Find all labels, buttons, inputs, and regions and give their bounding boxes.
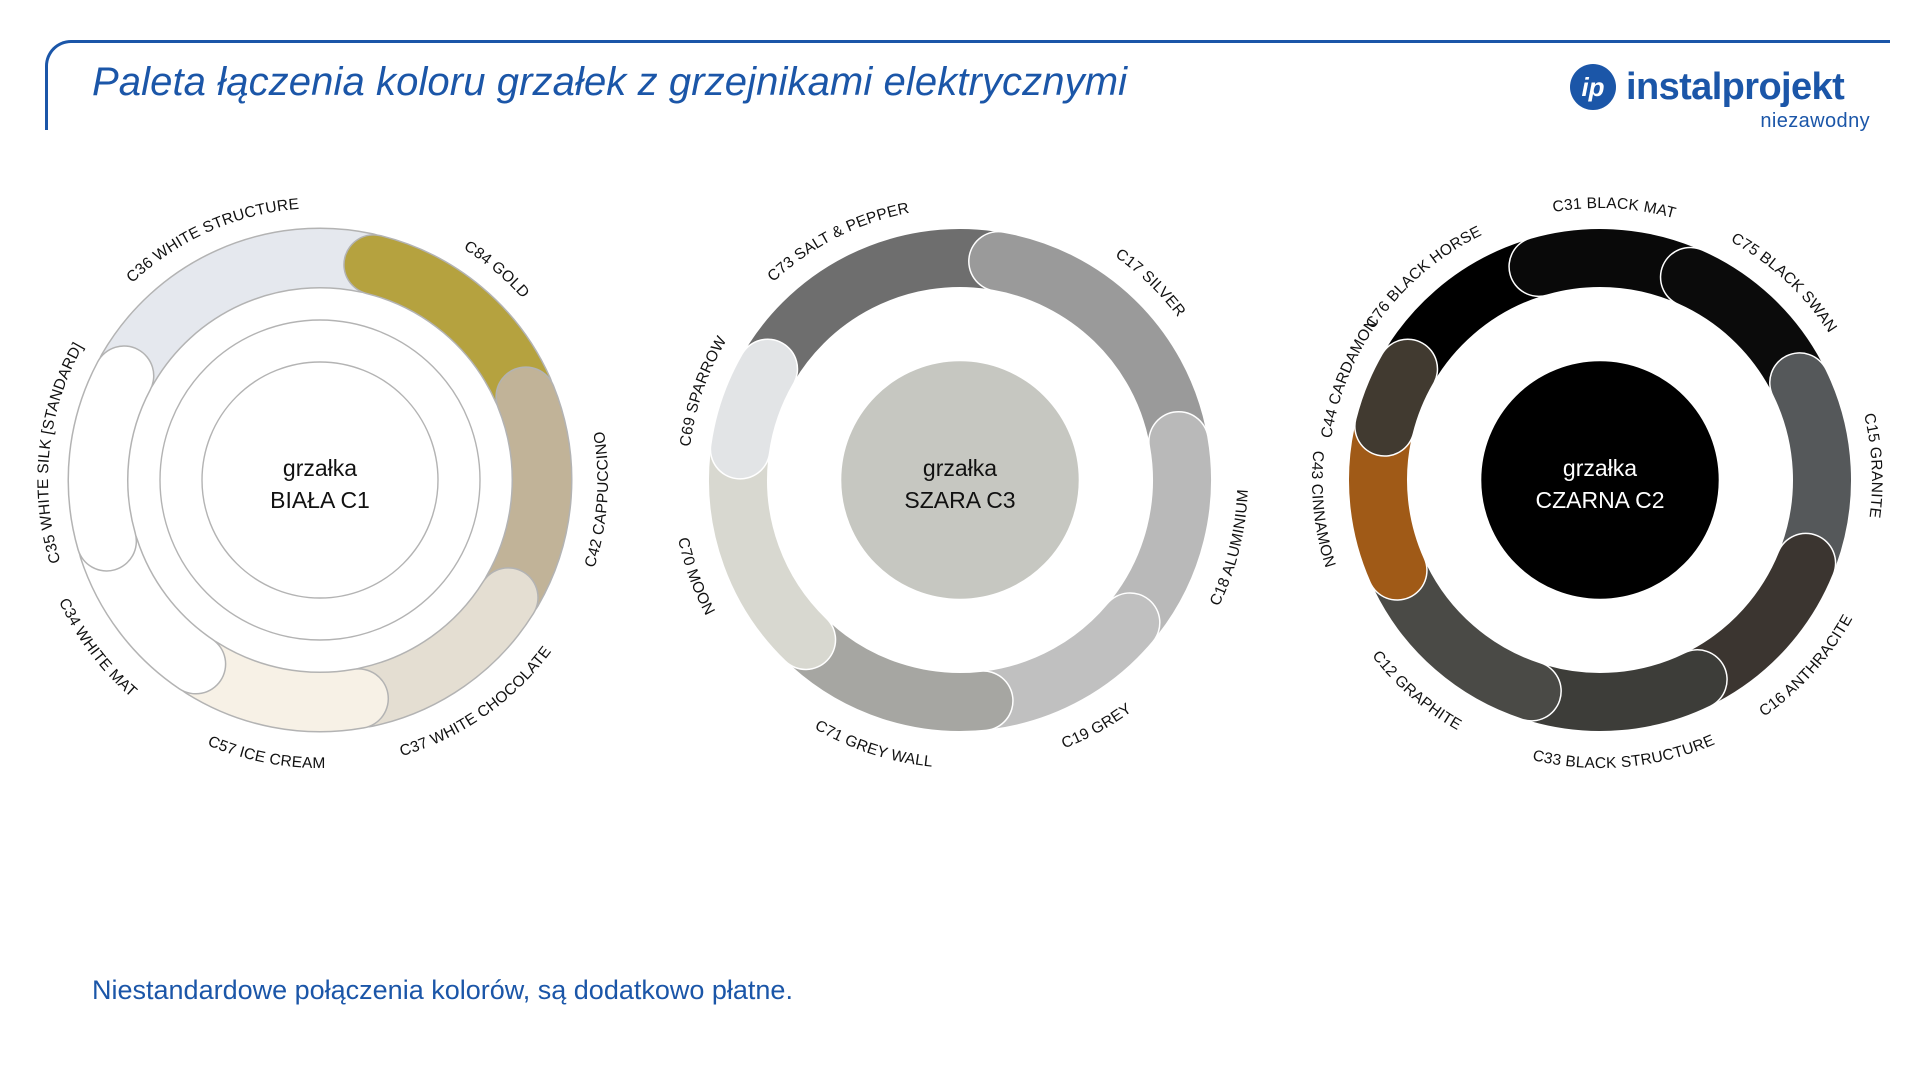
segment-label: C43 CINNAMON <box>1308 450 1338 570</box>
donut-segment[interactable] <box>202 668 358 702</box>
color-wheel-white: grzałkaBIAŁA C1C36 WHITE STRUCTUREC84 GO… <box>0 170 640 890</box>
donut-segment[interactable] <box>1385 369 1408 426</box>
hub-label-line2: CZARNA C2 <box>1535 487 1664 513</box>
segment-label: C19 GREY <box>1059 700 1135 752</box>
donut-segment[interactable] <box>738 457 806 640</box>
donut-segment[interactable] <box>1135 441 1182 616</box>
donut-segment[interactable] <box>1800 383 1822 556</box>
donut-segment[interactable] <box>98 376 124 541</box>
segment-label: C70 MOON <box>674 536 718 618</box>
segment-label: C57 ICE CREAM <box>205 733 325 772</box>
segment-label: C31 BLACK MAT <box>1551 195 1678 222</box>
donut-segment[interactable] <box>512 397 542 591</box>
segment-label: C33 BLACK STRUCTURE <box>1531 732 1717 772</box>
hub-label-line1: grzałka <box>923 455 997 481</box>
donut-segment[interactable] <box>366 598 508 698</box>
segment-label: C42 CAPPUCCINO <box>582 430 612 569</box>
color-wheel-grey: grzałkaSZARA C3C73 SALT & PEPPERC17 SILV… <box>640 170 1280 890</box>
donut-chart: grzałkaSZARA C3C73 SALT & PEPPERC17 SILV… <box>640 170 1280 890</box>
footer-note: Niestandardowe połączenia kolorów, są do… <box>92 975 793 1006</box>
hub-label-line2: SZARA C3 <box>904 487 1015 513</box>
segment-label: C18 ALUMINIUM <box>1207 489 1252 609</box>
hub-label-line1: grzałka <box>1563 455 1637 481</box>
donut-segment[interactable] <box>128 258 366 369</box>
donut-segment[interactable] <box>740 369 768 449</box>
logo-monogram: ip <box>1570 64 1616 110</box>
color-wheel-group: grzałkaBIAŁA C1C36 WHITE STRUCTUREC84 GO… <box>0 170 1920 890</box>
donut-segment[interactable] <box>764 258 991 376</box>
donut-segment[interactable] <box>811 645 983 702</box>
logo-tagline: niezawodny <box>1760 110 1870 133</box>
color-wheel-black: grzałkaCZARNA C2C76 BLACK HORSEC31 BLACK… <box>1280 170 1920 890</box>
page-title: Paleta łączenia koloru grzałek z grzejni… <box>92 60 1127 105</box>
hub-label-line2: BIAŁA C1 <box>270 487 370 513</box>
donut-segment[interactable] <box>374 265 523 390</box>
segment-label: C15 GRANITE <box>1860 412 1885 520</box>
donut-segment[interactable] <box>1400 577 1531 691</box>
page-header: Paleta łączenia koloru grzałek z grzejni… <box>0 0 1920 175</box>
logo-wordmark: instalprojekt <box>1626 64 1844 110</box>
donut-segment[interactable] <box>991 623 1130 700</box>
donut-chart: grzałkaCZARNA C2C76 BLACK HORSEC31 BLACK… <box>1280 170 1920 890</box>
donut-chart: grzałkaBIAŁA C1C36 WHITE STRUCTUREC84 GO… <box>0 170 640 890</box>
brand-logo: ip instalprojekt niezawodny <box>1570 58 1870 136</box>
hub-label-line1: grzałka <box>283 455 357 481</box>
donut-segment[interactable] <box>1539 680 1698 702</box>
